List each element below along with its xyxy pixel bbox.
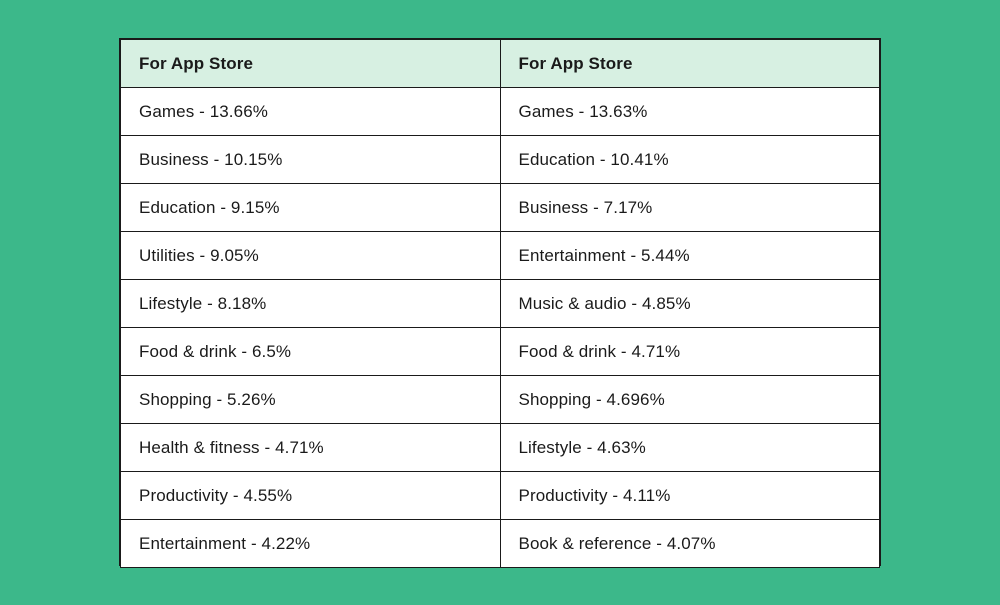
table-cell-left: Education - 9.15% xyxy=(121,184,501,232)
table-cell-left: Entertainment - 4.22% xyxy=(121,520,501,568)
page-canvas: For App Store For App Store Games - 13.6… xyxy=(0,0,1000,605)
table-cell-right: Productivity - 4.11% xyxy=(500,472,880,520)
column-header-right: For App Store xyxy=(500,40,880,88)
table-cell-left: Health & fitness - 4.71% xyxy=(121,424,501,472)
table-cell-right: Business - 7.17% xyxy=(500,184,880,232)
table-row: Utilities - 9.05% Entertainment - 5.44% xyxy=(121,232,880,280)
table-header-row: For App Store For App Store xyxy=(121,40,880,88)
table-row: Games - 13.66% Games - 13.63% xyxy=(121,88,880,136)
table-row: Food & drink - 6.5% Food & drink - 4.71% xyxy=(121,328,880,376)
table-row: Productivity - 4.55% Productivity - 4.11… xyxy=(121,472,880,520)
table-cell-left: Utilities - 9.05% xyxy=(121,232,501,280)
table-cell-right: Education - 10.41% xyxy=(500,136,880,184)
table-row: Education - 9.15% Business - 7.17% xyxy=(121,184,880,232)
app-store-categories-table: For App Store For App Store Games - 13.6… xyxy=(120,39,880,568)
table-cell-right: Lifestyle - 4.63% xyxy=(500,424,880,472)
table-header: For App Store For App Store xyxy=(121,40,880,88)
table-cell-left: Food & drink - 6.5% xyxy=(121,328,501,376)
table-row: Shopping - 5.26% Shopping - 4.696% xyxy=(121,376,880,424)
table-body: Games - 13.66% Games - 13.63% Business -… xyxy=(121,88,880,568)
table-cell-right: Entertainment - 5.44% xyxy=(500,232,880,280)
app-store-categories-table-container: For App Store For App Store Games - 13.6… xyxy=(119,38,881,566)
table-cell-right: Shopping - 4.696% xyxy=(500,376,880,424)
table-cell-right: Games - 13.63% xyxy=(500,88,880,136)
table-cell-left: Games - 13.66% xyxy=(121,88,501,136)
table-cell-left: Lifestyle - 8.18% xyxy=(121,280,501,328)
table-row: Lifestyle - 8.18% Music & audio - 4.85% xyxy=(121,280,880,328)
column-header-left: For App Store xyxy=(121,40,501,88)
table-cell-right: Music & audio - 4.85% xyxy=(500,280,880,328)
table-row: Business - 10.15% Education - 10.41% xyxy=(121,136,880,184)
table-cell-right: Food & drink - 4.71% xyxy=(500,328,880,376)
table-cell-right: Book & reference - 4.07% xyxy=(500,520,880,568)
table-cell-left: Shopping - 5.26% xyxy=(121,376,501,424)
table-row: Entertainment - 4.22% Book & reference -… xyxy=(121,520,880,568)
table-row: Health & fitness - 4.71% Lifestyle - 4.6… xyxy=(121,424,880,472)
table-cell-left: Business - 10.15% xyxy=(121,136,501,184)
table-cell-left: Productivity - 4.55% xyxy=(121,472,501,520)
